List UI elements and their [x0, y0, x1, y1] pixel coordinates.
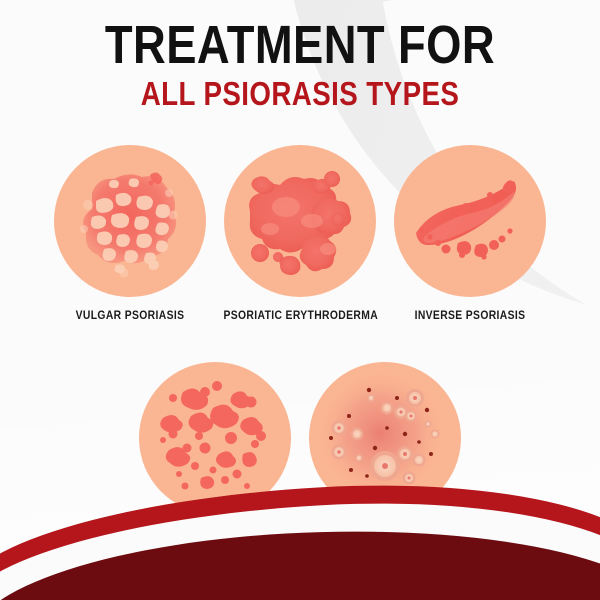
type-card-erythroderma[interactable]: PSORIATIC ERYTHRODERMA — [215, 145, 385, 322]
plaque-scales-icon — [54, 145, 206, 297]
crescent-lesion-icon — [394, 145, 546, 297]
illustration-inverse — [394, 145, 546, 297]
illustration-erythroderma — [224, 145, 376, 297]
type-label-erythroderma: PSORIATIC ERYTHRODERMA — [224, 310, 377, 322]
skin-disc — [54, 145, 206, 297]
large-red-patches-icon — [224, 145, 376, 297]
type-label-inverse: INVERSE PSORIASIS — [394, 310, 547, 322]
skin-disc — [224, 145, 376, 297]
illustration-vulgar — [54, 145, 206, 297]
type-label-vulgar: VULGAR PSORIASIS — [54, 310, 207, 322]
header: TREATMENT FOR ALL PSIORASIS TYPES — [0, 16, 600, 112]
page-title: TREATMENT FOR — [48, 16, 552, 74]
type-card-vulgar[interactable]: VULGAR PSORIASIS — [45, 145, 215, 322]
type-card-inverse[interactable]: INVERSE PSORIASIS — [385, 145, 555, 322]
psoriasis-types-infographic: TREATMENT FOR ALL PSIORASIS TYPES — [0, 0, 600, 600]
skin-disc — [394, 145, 546, 297]
page-subtitle: ALL PSIORASIS TYPES — [48, 76, 552, 112]
